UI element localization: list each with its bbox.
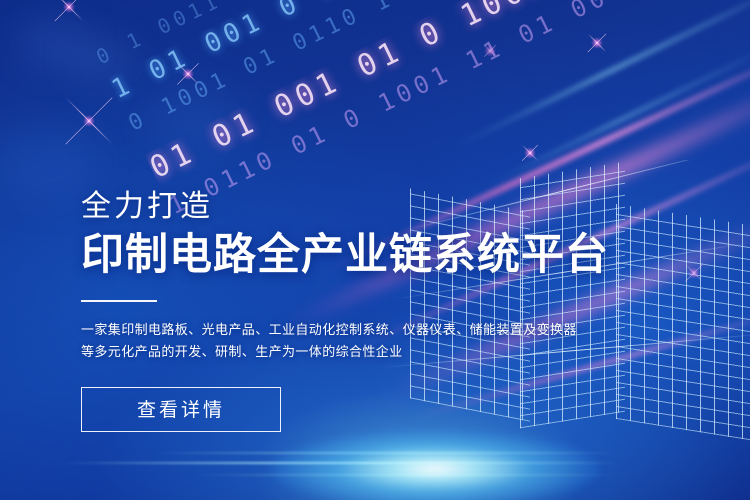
hero-eyebrow: 全力打造 [81,192,641,222]
star-sparkle [68,6,70,8]
hero-headline: 印制电路全产业链系统平台 [81,233,641,278]
star-sparkle [88,120,90,122]
hero-description-line: 等多元化产品的开发、研制、生产为一体的综合性企业 [81,341,641,363]
hero-description-line: 一家集印制电路板、光电产品、工业自动化控制系统、仪器仪表、储能装置及变换器 [81,319,641,341]
hero-divider [81,300,157,302]
nebula-blob [18,20,88,66]
hero-content: 全力打造 印制电路全产业链系统平台 一家集印制电路板、光电产品、工业自动化控制系… [81,192,641,432]
hero-description: 一家集印制电路板、光电产品、工业自动化控制系统、仪器仪表、储能装置及变换器 等多… [81,319,641,363]
hero-banner: 0 1 0011 101 0 1001 01 10 0101 1 0 1101 … [0,0,750,500]
star-halo [83,115,95,127]
view-details-button[interactable]: 查看详情 [81,387,281,432]
